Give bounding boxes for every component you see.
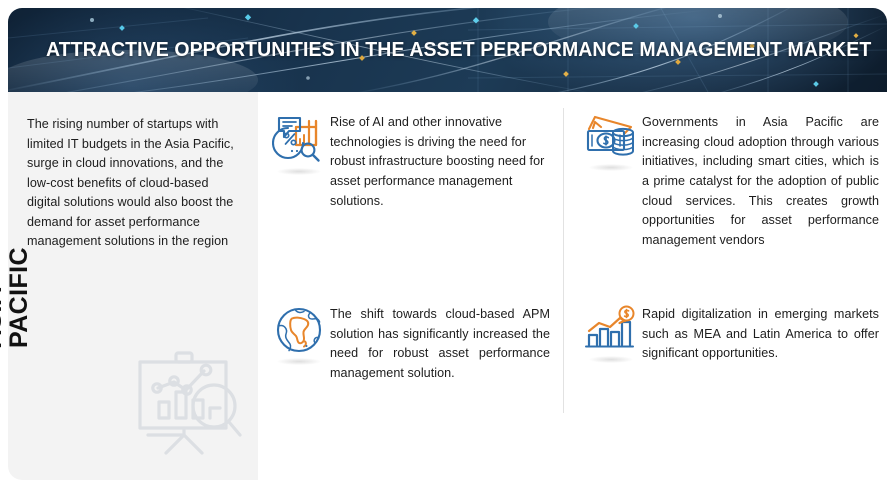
region-label-rotated-text: ASIA PACIFIC — [0, 247, 33, 348]
column-divider — [563, 108, 564, 413]
content-panel: Rise of AI and other innovative technolo… — [258, 92, 895, 480]
content-row-top: Rise of AI and other innovative technolo… — [258, 112, 895, 304]
icon-shadow — [277, 168, 321, 175]
header-title: ATTRACTIVE OPPORTUNITIES IN THE ASSET PE… — [46, 39, 857, 61]
icon-container — [268, 112, 330, 304]
content-item-cloud-shift: The shift towards cloud-based APM soluti… — [258, 304, 564, 464]
content-item-emerging-markets: Rapid digitalization in emerging markets… — [564, 304, 895, 464]
globe-icon — [274, 305, 324, 355]
ai-analytics-search-icon — [272, 113, 326, 165]
header-banner: ATTRACTIVE OPPORTUNITIES IN THE ASSET PE… — [8, 8, 887, 92]
icon-shadow — [589, 164, 633, 171]
left-summary-panel: The rising number of startups with limit… — [8, 92, 258, 480]
content-item-ai-innovation: Rise of AI and other innovative technolo… — [258, 112, 564, 304]
money-coins-icon — [584, 113, 638, 161]
content-item-text: Rapid digitalization in emerging markets… — [642, 304, 879, 464]
content-row-bottom: The shift towards cloud-based APM soluti… — [258, 304, 895, 464]
content-item-government-cloud: Governments in Asia Pacific are increasi… — [564, 112, 895, 304]
left-panel-paragraph: The rising number of startups with limit… — [27, 115, 241, 252]
icon-container — [580, 112, 642, 304]
content-item-text: Rise of AI and other innovative technolo… — [330, 112, 550, 304]
content-item-text: The shift towards cloud-based APM soluti… — [330, 304, 550, 464]
header-title-text: ATTRACTIVE OPPORTUNITIES IN THE ASSET PE… — [46, 39, 871, 61]
content-item-text: Governments in Asia Pacific are increasi… — [642, 112, 879, 304]
presentation-chart-magnifier-icon — [126, 340, 250, 458]
region-label-line2: PACIFIC — [6, 247, 32, 348]
icon-container — [268, 304, 330, 464]
icon-container — [580, 304, 642, 464]
infographic-page: ATTRACTIVE OPPORTUNITIES IN THE ASSET PE… — [0, 0, 895, 490]
icon-shadow — [589, 356, 633, 363]
body-section: The rising number of startups with limit… — [8, 92, 887, 480]
growth-chart-dollar-icon — [584, 305, 638, 353]
icon-shadow — [277, 358, 321, 365]
